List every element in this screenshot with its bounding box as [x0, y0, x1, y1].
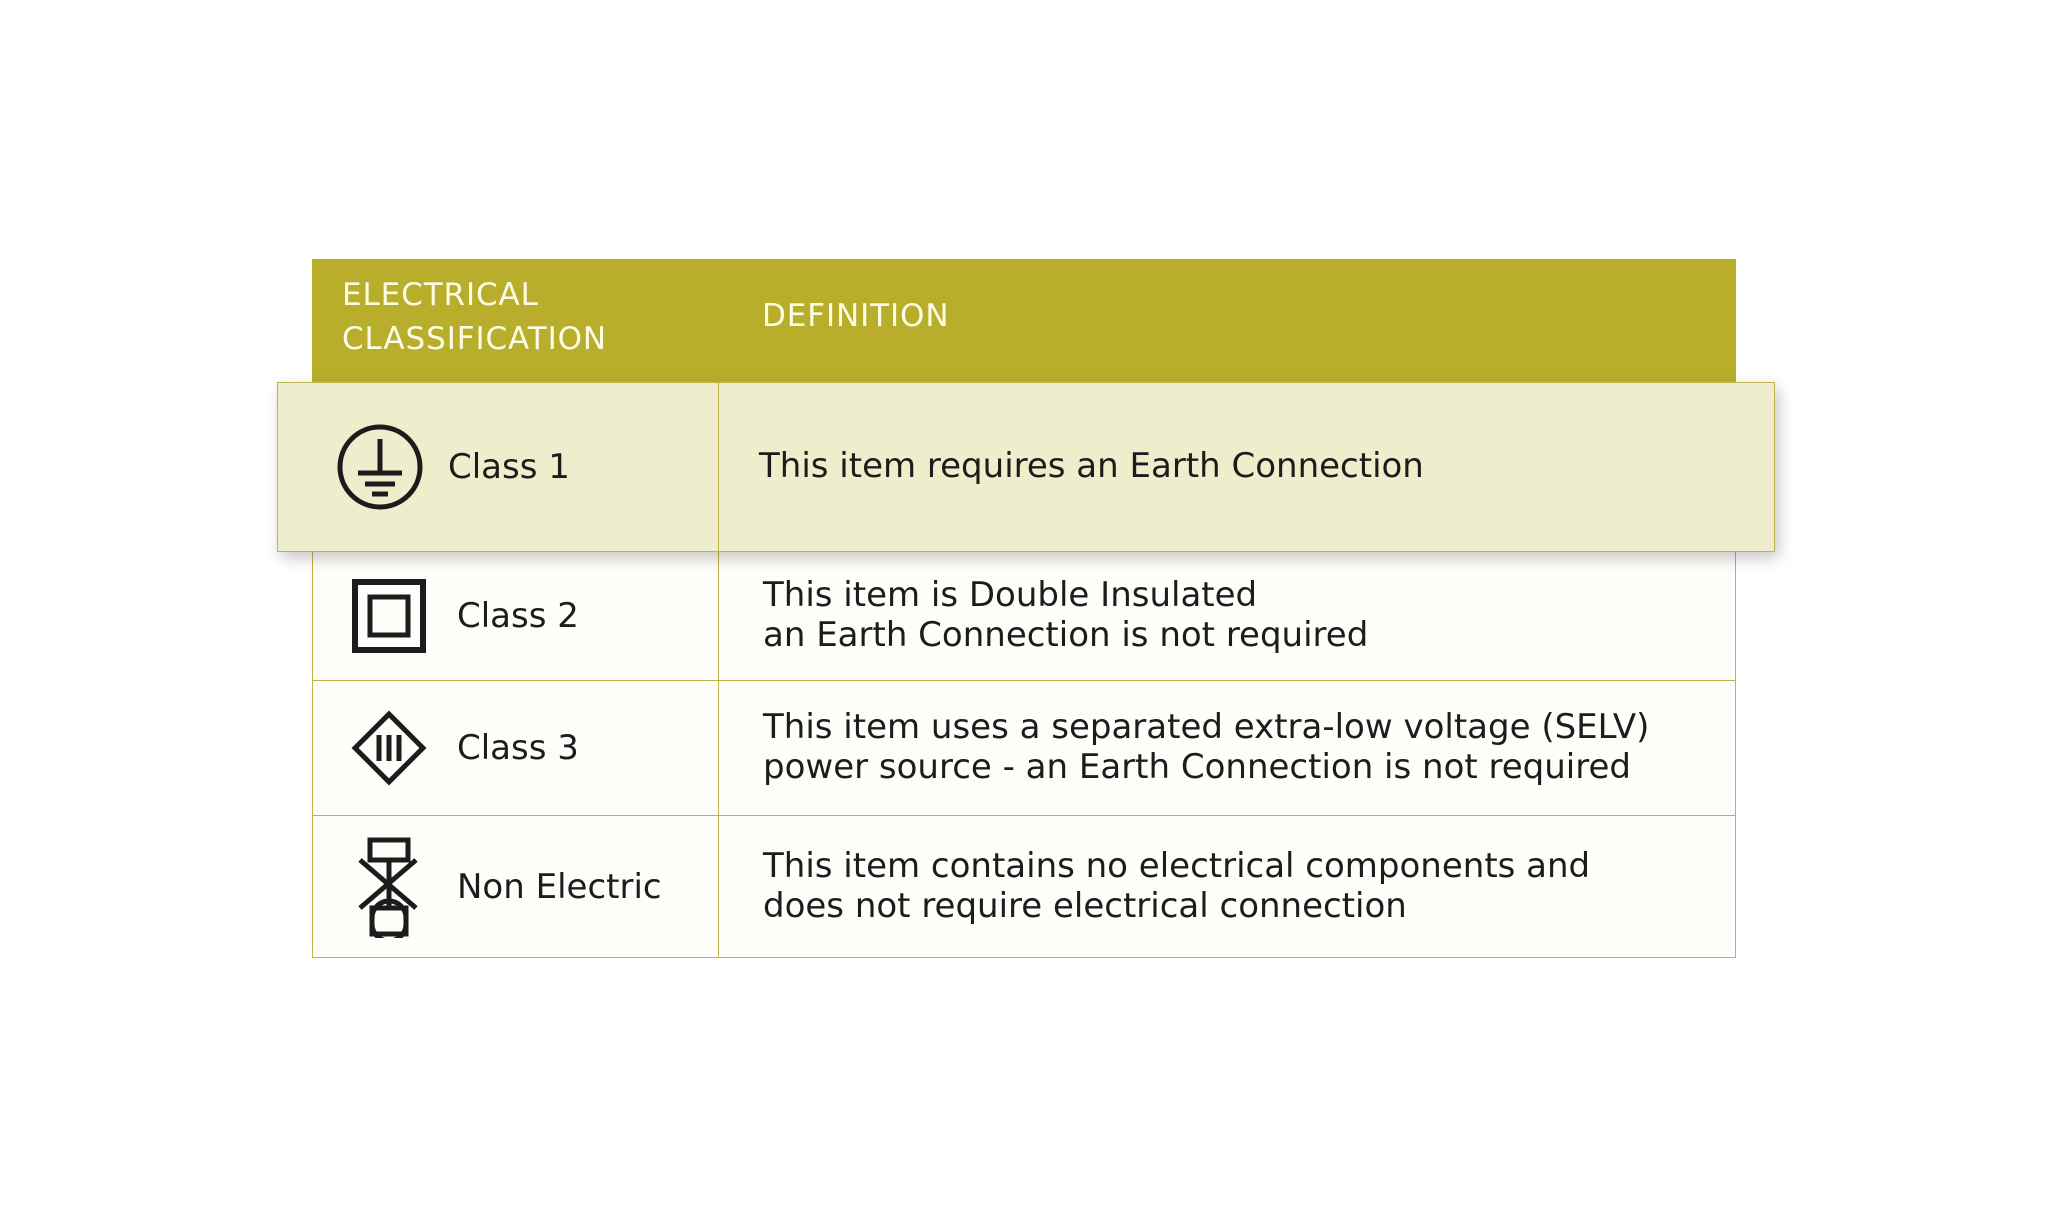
header-cell-classification: ELECTRICAL CLASSIFICATION	[312, 259, 718, 381]
symbol-cell: Non Electric	[313, 816, 719, 957]
diamond-three-bars-icon	[343, 702, 435, 794]
symbol-cell: Class 3	[313, 681, 719, 815]
class-label: Class 2	[457, 596, 579, 636]
definition-cell: This item uses a separated extra-low vol…	[719, 681, 1735, 815]
definition-cell: This item is Double Insulated an Earth C…	[719, 551, 1735, 680]
crossed-out-plug-icon	[343, 836, 435, 938]
table-row[interactable]: Class 3 This item uses a separated extra…	[312, 681, 1736, 816]
header-cell-definition: DEFINITION	[718, 259, 1736, 381]
table-row-highlighted[interactable]: Class 1 This item requires an Earth Conn…	[277, 382, 1775, 552]
symbol-cell: Class 1	[278, 383, 719, 551]
table-row[interactable]: Class 2 This item is Double Insulated an…	[312, 551, 1736, 681]
header-label-classification: ELECTRICAL CLASSIFICATION	[342, 273, 718, 361]
earth-ground-circle-icon	[334, 423, 426, 511]
table-header-row: ELECTRICAL CLASSIFICATION DEFINITION	[312, 259, 1736, 381]
definition-text: This item requires an Earth Connection	[759, 447, 1424, 487]
definition-text: This item uses a separated extra-low vol…	[763, 708, 1649, 788]
definition-text: This item is Double Insulated an Earth C…	[763, 576, 1368, 656]
definition-text: This item contains no electrical compone…	[763, 847, 1590, 927]
definition-cell: This item requires an Earth Connection	[719, 383, 1774, 551]
definition-cell: This item contains no electrical compone…	[719, 816, 1735, 957]
table-row[interactable]: Non Electric This item contains no elect…	[312, 816, 1736, 958]
class-label: Class 3	[457, 728, 579, 768]
header-label-definition: DEFINITION	[762, 294, 1736, 338]
symbol-cell: Class 2	[313, 551, 719, 680]
class-label: Non Electric	[457, 867, 662, 907]
electrical-classification-table: ELECTRICAL CLASSIFICATION DEFINITION Cla…	[312, 259, 1736, 958]
class-label: Class 1	[448, 447, 570, 487]
double-square-insulation-icon	[343, 578, 435, 654]
